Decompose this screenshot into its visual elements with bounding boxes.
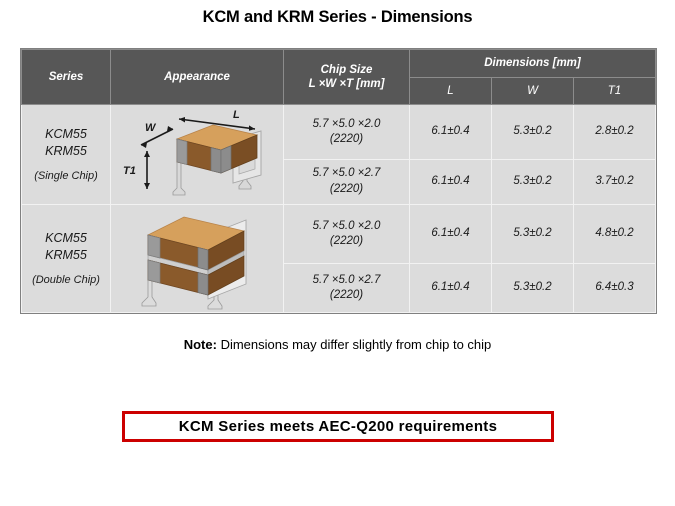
double-chip-capacitor-icon <box>122 207 272 311</box>
chip-size-line1: 5.7 ×5.0 ×2.7 <box>284 166 409 182</box>
chip-size-line1: 5.7 ×5.0 ×2.0 <box>284 219 409 235</box>
table-row: KCM55 KRM55 (Double Chip) <box>22 205 656 264</box>
aec-q200-callout-text: KCM Series meets AEC-Q200 requirements <box>179 418 497 435</box>
chip-size-line2: (2220) <box>284 132 409 148</box>
series-line2: KRM55 <box>45 248 87 262</box>
column-header-series: Series <box>22 50 111 105</box>
dim-t1-cell: 6.4±0.3 <box>574 264 656 313</box>
series-line1: KCM55 <box>45 127 87 141</box>
single-chip-capacitor-icon: W L T1 <box>115 109 279 201</box>
column-header-chip-size: Chip Size L ×W ×T [mm] <box>284 50 410 105</box>
series-note: (Double Chip) <box>22 273 110 288</box>
column-header-dim-l: L <box>410 77 492 105</box>
dim-l-cell: 6.1±0.4 <box>410 205 492 264</box>
dim-l-cell: 6.1±0.4 <box>410 105 492 159</box>
chip-size-cell: 5.7 ×5.0 ×2.7 (2220) <box>284 159 410 204</box>
chip-size-line1: 5.7 ×5.0 ×2.0 <box>284 117 409 133</box>
table-row: KCM55 KRM55 (Single Chip) <box>22 105 656 159</box>
appearance-cell-single-chip: W L T1 <box>111 105 284 205</box>
column-header-dim-w: W <box>492 77 574 105</box>
table-header-row-primary: Series Appearance Chip Size L ×W ×T [mm]… <box>22 50 656 78</box>
chip-size-line2: (2220) <box>284 182 409 198</box>
note-line: Note: Dimensions may differ slightly fro… <box>0 337 675 352</box>
dim-w-cell: 5.3±0.2 <box>492 105 574 159</box>
note-label: Note: <box>184 337 217 352</box>
chip-size-cell: 5.7 ×5.0 ×2.7 (2220) <box>284 264 410 313</box>
chip-size-cell: 5.7 ×5.0 ×2.0 (2220) <box>284 105 410 159</box>
dim-w-cell: 5.3±0.2 <box>492 159 574 204</box>
dimensions-table: Series Appearance Chip Size L ×W ×T [mm]… <box>21 49 656 313</box>
dimensions-table-container: Series Appearance Chip Size L ×W ×T [mm]… <box>20 48 657 314</box>
dim-w-cell: 5.3±0.2 <box>492 264 574 313</box>
series-line1: KCM55 <box>45 231 87 245</box>
column-header-appearance: Appearance <box>111 50 284 105</box>
dim-t1-cell: 2.8±0.2 <box>574 105 656 159</box>
diagram-label-l: L <box>233 109 240 121</box>
chip-size-cell: 5.7 ×5.0 ×2.0 (2220) <box>284 205 410 264</box>
diagram-label-w: W <box>145 122 157 134</box>
note-text: Dimensions may differ slightly from chip… <box>221 337 492 352</box>
dim-l-cell: 6.1±0.4 <box>410 159 492 204</box>
series-cell-single-chip: KCM55 KRM55 (Single Chip) <box>22 105 111 205</box>
appearance-cell-double-chip <box>111 205 284 313</box>
dim-t1-cell: 3.7±0.2 <box>574 159 656 204</box>
series-note: (Single Chip) <box>22 169 110 184</box>
diagram-label-t1: T1 <box>123 165 136 177</box>
series-line2: KRM55 <box>45 144 87 158</box>
chip-size-header-line2: L ×W ×T [mm] <box>309 78 385 90</box>
column-header-dim-t1: T1 <box>574 77 656 105</box>
dim-l-cell: 6.1±0.4 <box>410 264 492 313</box>
chip-size-line2: (2220) <box>284 288 409 304</box>
dim-w-cell: 5.3±0.2 <box>492 205 574 264</box>
chip-size-line1: 5.7 ×5.0 ×2.7 <box>284 273 409 289</box>
aec-q200-callout-box: KCM Series meets AEC-Q200 requirements <box>122 411 554 442</box>
chip-size-line2: (2220) <box>284 234 409 250</box>
series-cell-double-chip: KCM55 KRM55 (Double Chip) <box>22 205 111 313</box>
dim-t1-cell: 4.8±0.2 <box>574 205 656 264</box>
page-title: KCM and KRM Series - Dimensions <box>0 8 675 27</box>
chip-size-header-line1: Chip Size <box>321 64 373 76</box>
column-header-dimensions-group: Dimensions [mm] <box>410 50 656 78</box>
